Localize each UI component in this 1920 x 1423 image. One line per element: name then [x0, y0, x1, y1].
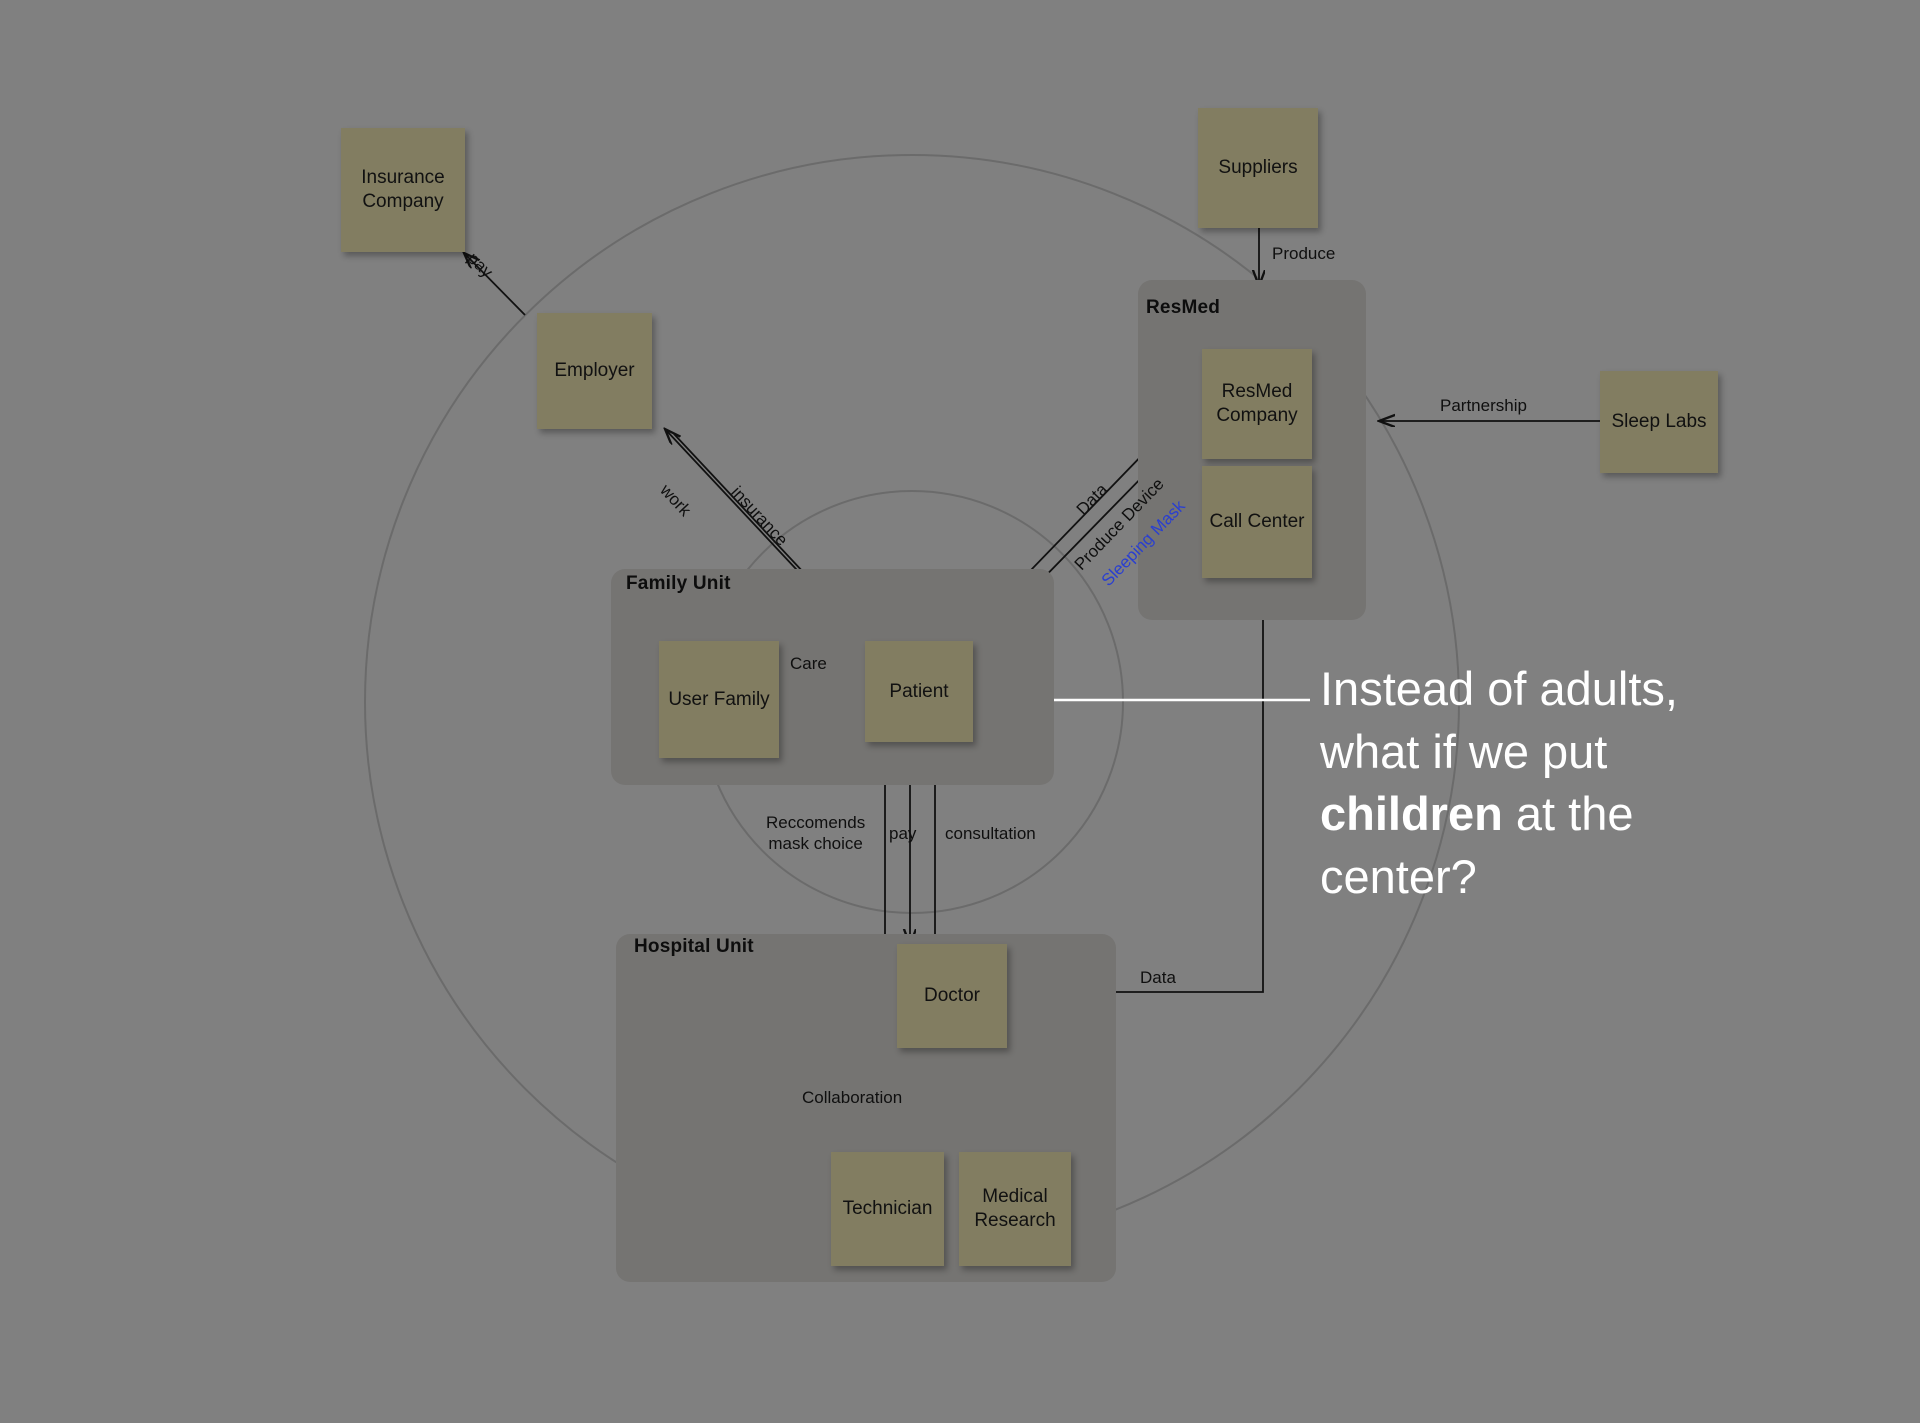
node-insurance-company[interactable]: Insurance Company [341, 128, 465, 252]
caption-line-1: Instead of adults, [1320, 662, 1678, 715]
edge-label-collaboration: Collaboration [802, 1087, 902, 1108]
node-user-family[interactable]: User Family [659, 641, 779, 758]
slide-caption: Instead of adults, what if we put childr… [1320, 658, 1820, 908]
node-medical-research[interactable]: Medical Research [959, 1152, 1071, 1266]
group-hospital-label: Hospital Unit [634, 936, 754, 958]
node-insurance-company-label: Insurance Company [361, 166, 444, 214]
caption-line-4: center? [1320, 850, 1477, 903]
edge-label-pay-doctor: pay [889, 823, 916, 844]
node-employer[interactable]: Employer [537, 313, 652, 429]
node-medical-research-label: Medical Research [974, 1185, 1055, 1233]
group-resmed-label: ResMed [1146, 297, 1220, 319]
node-patient-label: Patient [889, 680, 948, 704]
node-resmed-company-label: ResMed Company [1216, 380, 1297, 428]
node-sleep-labs[interactable]: Sleep Labs [1600, 371, 1718, 473]
node-sleep-labs-label: Sleep Labs [1611, 410, 1706, 434]
diagram-canvas: ResMed Family Unit Hospital Unit Insuran… [0, 0, 1920, 1423]
node-call-center-label: Call Center [1209, 510, 1304, 534]
node-doctor-label: Doctor [924, 984, 980, 1008]
edge-label-consultation: consultation [945, 823, 1036, 844]
edge-label-produce: Produce [1272, 243, 1335, 264]
node-user-family-label: User Family [668, 688, 769, 712]
edge-label-recommends: Reccomends mask choice [766, 812, 865, 855]
node-resmed-company[interactable]: ResMed Company [1202, 349, 1312, 459]
edge-label-data-doctor: Data [1140, 967, 1176, 988]
node-employer-label: Employer [554, 359, 634, 383]
node-suppliers[interactable]: Suppliers [1198, 108, 1318, 228]
edge-label-care: Care [790, 653, 827, 674]
node-suppliers-label: Suppliers [1218, 156, 1297, 180]
caption-line-3-tail: at the [1503, 787, 1634, 840]
caption-bold-word: children [1320, 787, 1503, 840]
edge-label-partnership: Partnership [1440, 395, 1527, 416]
group-family-label: Family Unit [626, 573, 731, 595]
node-technician-label: Technician [843, 1197, 933, 1221]
node-patient[interactable]: Patient [865, 641, 973, 742]
node-call-center[interactable]: Call Center [1202, 466, 1312, 578]
node-doctor[interactable]: Doctor [897, 944, 1007, 1048]
caption-line-2: what if we put [1320, 725, 1607, 778]
node-technician[interactable]: Technician [831, 1152, 944, 1266]
